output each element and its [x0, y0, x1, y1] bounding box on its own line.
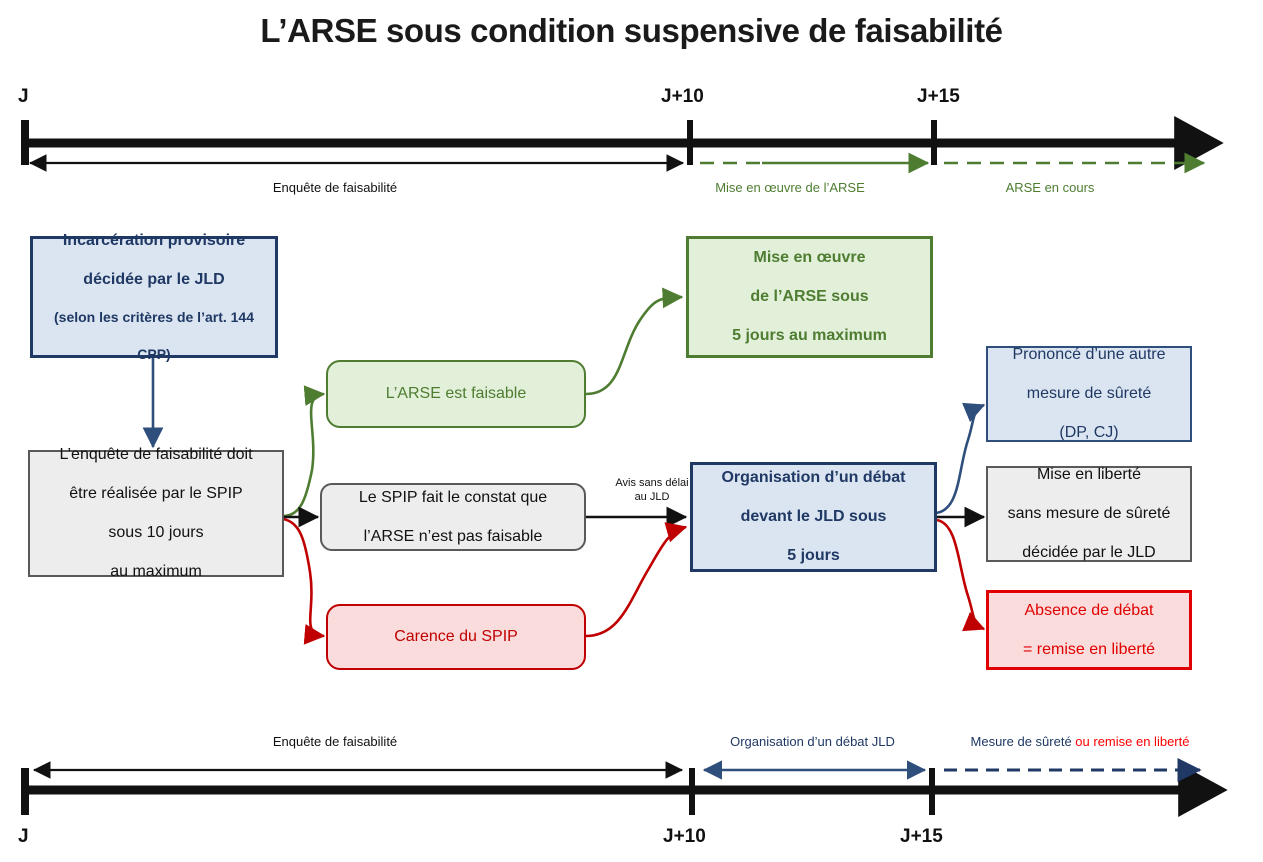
box-autre-mesure-line-2: mesure de sûreté — [1005, 384, 1174, 404]
connector-carence-to-organisation — [586, 527, 686, 636]
box-organisation-line-3: 5 jours — [713, 546, 913, 566]
box-autre-mesure-surete[interactable]: Prononcé d’une autre mesure de sûreté (D… — [986, 346, 1192, 442]
box-mise-en-liberte[interactable]: Mise en liberté sans mesure de sûreté dé… — [986, 466, 1192, 562]
box-absence-debat-line-1: Absence de débat — [1015, 601, 1163, 621]
box-incarceration-provisoire[interactable]: Incarcération provisoire décidée par le … — [30, 236, 278, 358]
box-enquete-line-3: sous 10 jours — [51, 523, 260, 543]
connector-organisation-to-absence-debat — [937, 520, 984, 629]
box-autre-mesure-line-3: (DP, CJ) — [1005, 423, 1174, 443]
box-enquete-line-4: au maximum — [51, 562, 260, 582]
box-spip-constat[interactable]: Le SPIP fait le constat que l’ARSE n’est… — [320, 483, 586, 551]
box-mise-liberte-line-2: sans mesure de sûreté — [1000, 504, 1179, 524]
connector-arse-faisable-to-mise-en-oeuvre — [586, 297, 682, 394]
box-incarceration-line-2: décidée par le JLD — [46, 270, 262, 290]
box-mise-liberte-line-3: décidée par le JLD — [1000, 543, 1179, 563]
box-absence-debat[interactable]: Absence de débat = remise en liberté — [986, 590, 1192, 670]
box-organisation-line-1: Organisation d’un débat — [713, 468, 913, 488]
box-mise-liberte-line-1: Mise en liberté — [1000, 465, 1179, 485]
bottom-timeline-axis — [22, 768, 1216, 815]
box-mise-en-oeuvre-arse[interactable]: Mise en œuvre de l’ARSE sous 5 jours au … — [686, 236, 933, 358]
box-enquete-faisabilite[interactable]: L’enquête de faisabilité doit être réali… — [28, 450, 284, 577]
box-arse-faisable-line-1: L’ARSE est faisable — [378, 384, 535, 404]
connector-enquete-to-carence — [283, 519, 324, 636]
connector-organisation-to-autre-mesure — [936, 405, 984, 513]
box-mise-en-oeuvre-line-2: de l’ARSE sous — [724, 287, 895, 307]
box-enquete-line-1: L’enquête de faisabilité doit — [51, 445, 260, 465]
box-spip-constat-line-2: l’ARSE n’est pas faisable — [351, 527, 555, 547]
box-mise-en-oeuvre-line-3: 5 jours au maximum — [724, 326, 895, 346]
box-autre-mesure-line-1: Prononcé d’une autre — [1005, 345, 1174, 365]
box-organisation-line-2: devant le JLD sous — [713, 507, 913, 527]
box-mise-en-oeuvre-line-1: Mise en œuvre — [724, 248, 895, 268]
diagram-canvas: L’ARSE sous condition suspensive de fais… — [0, 0, 1263, 862]
box-incarceration-line-3: (selon les critères de l’art. 144 — [46, 309, 262, 326]
top-timeline-axis — [22, 120, 1212, 165]
box-spip-constat-line-1: Le SPIP fait le constat que — [351, 488, 555, 508]
box-carence-spip-line-1: Carence du SPIP — [386, 627, 526, 647]
box-absence-debat-line-2: = remise en liberté — [1015, 640, 1163, 660]
box-incarceration-line-4: CPP) — [46, 346, 262, 363]
connector-enquete-to-arse-faisable — [283, 394, 324, 516]
box-carence-spip[interactable]: Carence du SPIP — [326, 604, 586, 670]
box-arse-est-faisable[interactable]: L’ARSE est faisable — [326, 360, 586, 428]
box-incarceration-line-1: Incarcération provisoire — [46, 231, 262, 251]
box-enquete-line-2: être réalisée par le SPIP — [51, 484, 260, 504]
box-organisation-debat[interactable]: Organisation d’un débat devant le JLD so… — [690, 462, 937, 572]
